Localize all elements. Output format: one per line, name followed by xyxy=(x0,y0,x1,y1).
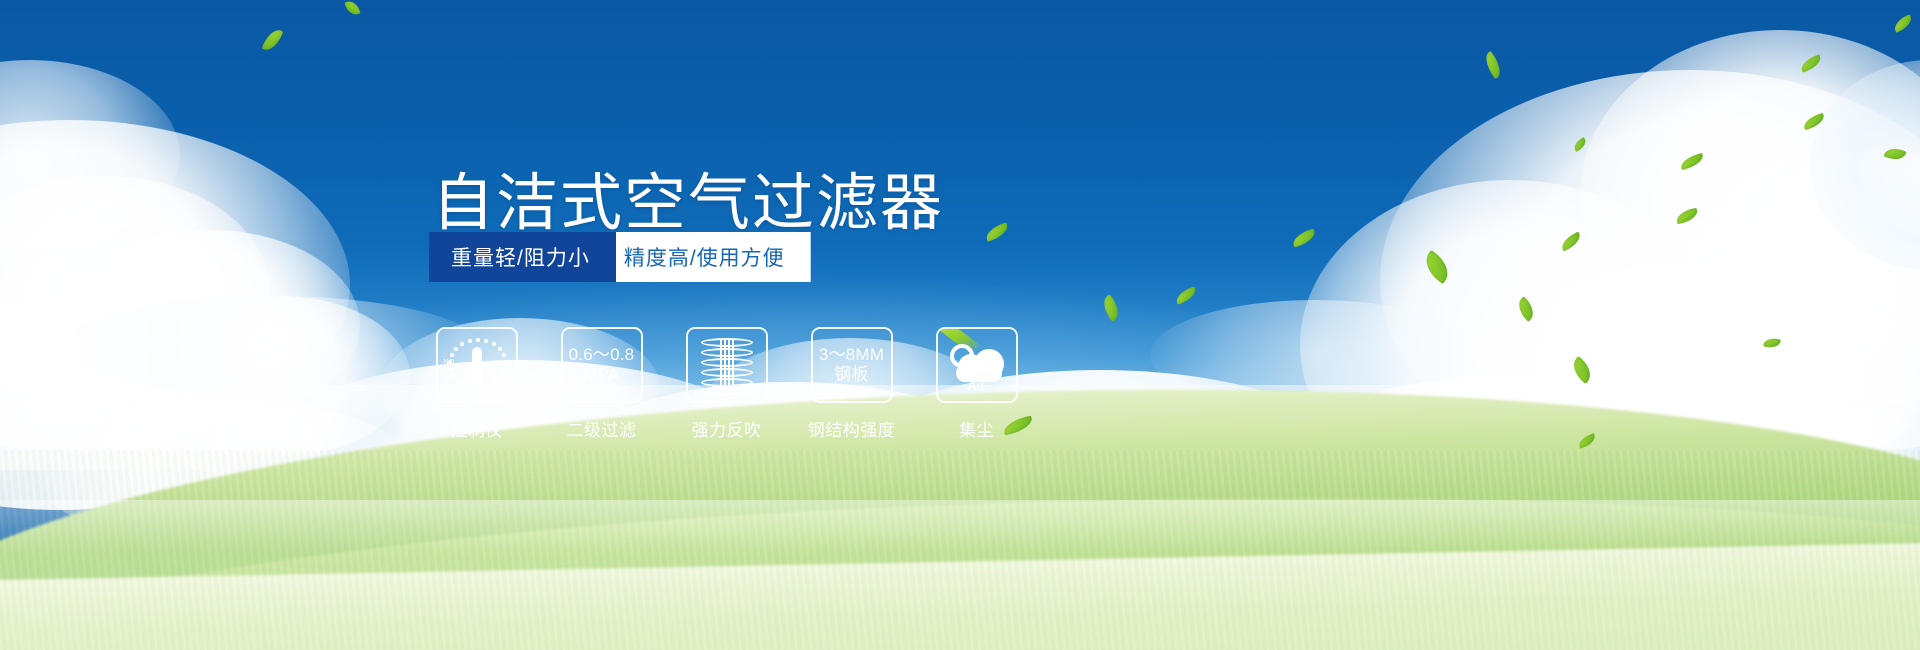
pressure-value: 0.6～0.8 xyxy=(569,345,635,365)
feature-item-backblow[interactable]: 强力反吹 xyxy=(679,327,774,441)
tagline-tab-primary[interactable]: 重量轻/阻力小 xyxy=(429,232,616,282)
feature-item-controller[interactable]: NO OFF 控制仪 xyxy=(429,327,524,441)
feature-item-steel[interactable]: 3～8MM 钢板 钢结构强度 xyxy=(804,327,899,441)
cartridge-icon xyxy=(698,336,756,394)
pressure-unit: MPA xyxy=(569,365,635,385)
air-cloud-icon: Air xyxy=(944,336,1010,394)
feature-item-pressure[interactable]: 0.6～0.8 MPA 二级过滤 xyxy=(554,327,649,441)
gauge-icon: NO OFF xyxy=(445,335,509,395)
gauge-label-no: NO xyxy=(444,359,455,366)
pressure-icon: 0.6～0.8 MPA xyxy=(569,345,635,385)
banner-content: 自洁式空气过滤器 重量轻/阻力小 精度高/使用方便 xyxy=(0,0,1920,650)
sprout-leaves-icon xyxy=(838,106,908,158)
feature-tagline-tabs: 重量轻/阻力小 精度高/使用方便 xyxy=(429,232,811,282)
page-title: 自洁式空气过滤器 xyxy=(432,173,944,235)
feature-icon-box: Air xyxy=(936,327,1018,403)
feature-icon-row: NO OFF 控制仪 0.6～0.8 MPA 二级过滤 xyxy=(429,327,1024,441)
air-label: Air xyxy=(944,378,1010,393)
feature-icon-box: NO OFF xyxy=(436,327,518,403)
feature-icon-box: 0.6～0.8 MPA xyxy=(561,327,643,403)
gauge-label-off: OFF xyxy=(494,379,509,386)
feature-label: 强力反吹 xyxy=(692,416,762,441)
feature-label: 集尘 xyxy=(959,416,994,441)
feature-icon-box: 3～8MM 钢板 xyxy=(811,327,893,403)
feature-label: 二级过滤 xyxy=(567,416,637,441)
steel-icon: 3～8MM 钢板 xyxy=(819,345,884,385)
feature-label: 控制仪 xyxy=(450,416,503,441)
feature-item-dust[interactable]: Air 集尘 xyxy=(929,327,1024,441)
steel-material: 钢板 xyxy=(819,365,884,385)
gauge-needle xyxy=(472,347,482,387)
product-hero-banner: 自洁式空气过滤器 重量轻/阻力小 精度高/使用方便 xyxy=(0,0,1920,650)
feature-icon-box xyxy=(686,327,768,403)
steel-thickness: 3～8MM xyxy=(819,345,884,365)
tagline-tab-secondary[interactable]: 精度高/使用方便 xyxy=(594,232,811,282)
feature-label: 钢结构强度 xyxy=(808,416,896,441)
